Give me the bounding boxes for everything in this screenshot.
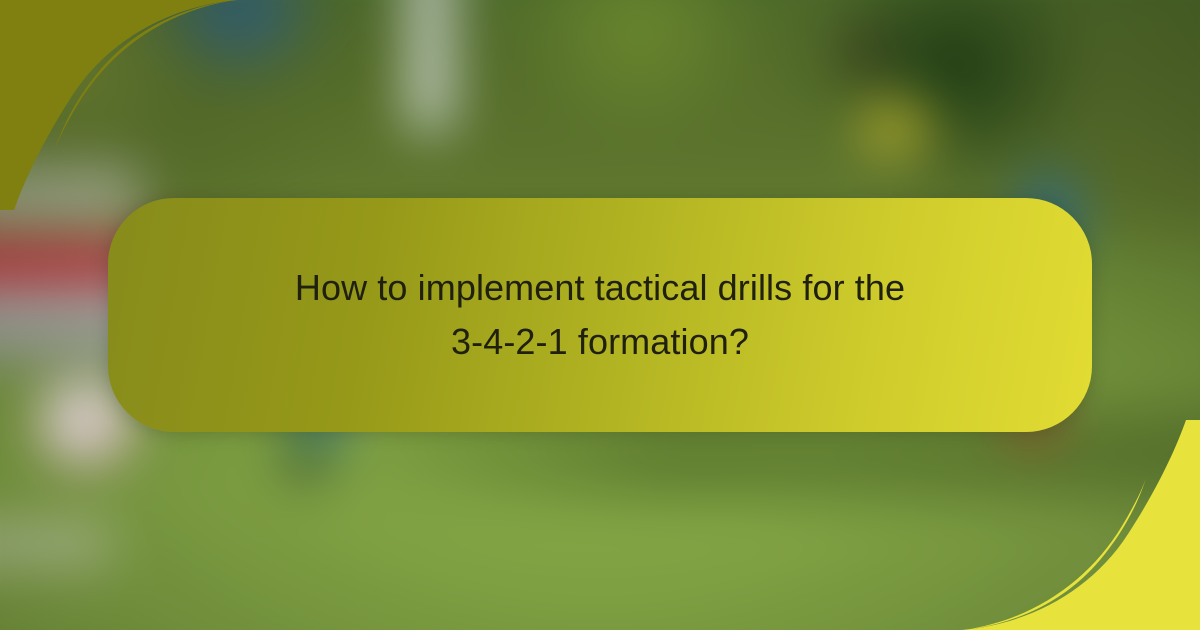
page-title-line-2: 3-4-2-1 formation?	[295, 315, 905, 369]
page-title: How to implement tactical drills for the…	[239, 261, 961, 369]
title-card: How to implement tactical drills for the…	[108, 198, 1092, 432]
social-card-canvas: How to implement tactical drills for the…	[0, 0, 1200, 630]
page-title-line-1: How to implement tactical drills for the	[295, 261, 905, 315]
